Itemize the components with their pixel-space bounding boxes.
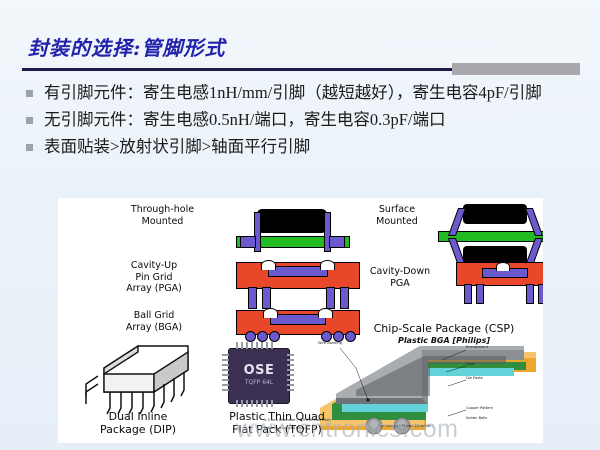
bullet-list: 有引脚元件：寄生电感1nH/mm/引脚（越短越好），寄生电容4pF/引脚 无引脚… — [26, 80, 586, 161]
list-item: 表面贴装>放射状引脚>轴面平行引脚 — [26, 134, 586, 159]
page-title: 封装的选择:管脚形式 — [28, 32, 225, 61]
watermark-text: www.cntronics.com — [236, 415, 458, 444]
figure-label-chip-scale-package: Chip-Scale Package (CSP) — [344, 322, 543, 335]
bullet-square-icon — [26, 117, 33, 124]
slide: 封装的选择:管脚形式 有引脚元件：寄生电感1nH/mm/引脚（越短越好），寄生电… — [0, 0, 600, 450]
csp-callout-encapsulant: Encapsulant — [466, 345, 488, 349]
package-types-figure: Through-hole Mounted Surface Mounted Cav… — [58, 198, 543, 443]
figure-label-ball-grid-array: Ball Grid Array (BGA) — [94, 310, 214, 333]
csp-callout-die-paste: Die Paste — [466, 376, 483, 380]
csp-callout-solder-balls: Solder Balls — [466, 416, 487, 420]
list-item: 有引脚元件：寄生电感1nH/mm/引脚（越短越好），寄生电容4pF/引脚 — [26, 80, 586, 105]
bullet-square-icon — [26, 144, 33, 151]
bullet-text: 有引脚元件：寄生电感1nH/mm/引脚（越短越好），寄生电容4pF/引脚 — [44, 80, 586, 105]
csp-callout-glue: Glue — [466, 362, 474, 366]
figure-label-cavity-up-pga: Cavity-Up Pin Grid Array (PGA) — [94, 260, 214, 295]
csp-callout-wire-bonding: Wire Bonding — [318, 341, 342, 345]
title-divider-accent-block — [452, 63, 580, 75]
list-item: 无引脚元件：寄生电感0.5nH/端口，寄生电容0.3pF/端口 — [26, 107, 586, 132]
figure-label-cavity-down-pga: Cavity-Down PGA — [354, 266, 446, 289]
figure-label-through-hole: Through-hole Mounted — [110, 204, 215, 227]
figure-label-dual-inline-package: Dual Inline Package (DIP) — [74, 410, 202, 436]
bullet-text: 表面贴装>放射状引脚>轴面平行引脚 — [44, 134, 586, 159]
figure-label-surface-mounted: Surface Mounted — [357, 204, 437, 227]
csp-callout-copper-pattern: Copper Pattern — [466, 406, 493, 410]
bullet-text: 无引脚元件：寄生电感0.5nH/端口，寄生电容0.3pF/端口 — [44, 107, 586, 132]
dip-package-drawing — [76, 338, 196, 416]
bullet-square-icon — [26, 90, 33, 97]
